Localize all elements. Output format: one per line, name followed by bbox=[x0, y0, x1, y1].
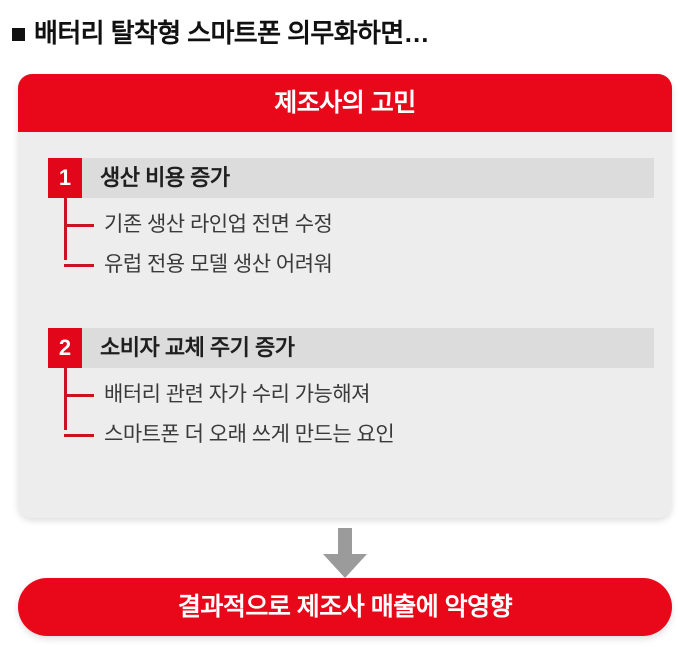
tree-branch-icon bbox=[64, 394, 94, 397]
conclusion-banner: 결과적으로 제조사 매출에 악영향 bbox=[18, 578, 672, 636]
page-title: 배터리 탈착형 스마트폰 의무화하면… bbox=[12, 14, 429, 52]
section-1-header: 1 생산 비용 증가 bbox=[48, 158, 654, 198]
conclusion-banner-text: 결과적으로 제조사 매출에 악영향 bbox=[178, 595, 512, 620]
list-item: 스마트폰 더 오래 쓰게 만드는 요인 bbox=[64, 414, 654, 454]
section-2-number-badge: 2 bbox=[48, 328, 82, 368]
concern-section-1: 1 생산 비용 증가 기존 생산 라인업 전면 수정 유럽 전용 모델 생산 어… bbox=[18, 158, 672, 284]
card-header: 제조사의 고민 bbox=[18, 74, 672, 132]
arrow-down-icon bbox=[317, 528, 373, 580]
list-item-text: 유럽 전용 모델 생산 어려워 bbox=[104, 254, 332, 275]
tree-branch-icon bbox=[64, 264, 94, 267]
section-1-items: 기존 생산 라인업 전면 수정 유럽 전용 모델 생산 어려워 bbox=[64, 198, 654, 284]
list-item: 유럽 전용 모델 생산 어려워 bbox=[64, 244, 654, 284]
manufacturer-concerns-card: 제조사의 고민 1 생산 비용 증가 기존 생산 라인업 전면 수정 유럽 전용… bbox=[18, 74, 672, 518]
section-1-heading: 생산 비용 증가 bbox=[100, 158, 230, 198]
section-2-items: 배터리 관련 자가 수리 가능해져 스마트폰 더 오래 쓰게 만드는 요인 bbox=[64, 368, 654, 454]
tree-branch-icon bbox=[64, 224, 94, 227]
list-item-text: 기존 생산 라인업 전면 수정 bbox=[104, 214, 332, 235]
page-title-text: 배터리 탈착형 스마트폰 의무화하면… bbox=[34, 20, 429, 46]
concern-section-2: 2 소비자 교체 주기 증가 배터리 관련 자가 수리 가능해져 스마트폰 더 … bbox=[18, 328, 672, 454]
square-bullet-icon bbox=[12, 28, 25, 41]
card-header-title: 제조사의 고민 bbox=[274, 91, 415, 116]
section-2-heading: 소비자 교체 주기 증가 bbox=[100, 328, 295, 368]
card-body: 1 생산 비용 증가 기존 생산 라인업 전면 수정 유럽 전용 모델 생산 어… bbox=[18, 132, 672, 518]
section-1-number-badge: 1 bbox=[48, 158, 82, 198]
list-item-text: 스마트폰 더 오래 쓰게 만드는 요인 bbox=[104, 424, 394, 445]
list-item-text: 배터리 관련 자가 수리 가능해져 bbox=[104, 384, 370, 405]
list-item: 기존 생산 라인업 전면 수정 bbox=[64, 204, 654, 244]
list-item: 배터리 관련 자가 수리 가능해져 bbox=[64, 374, 654, 414]
tree-branch-icon bbox=[64, 434, 94, 437]
section-2-header: 2 소비자 교체 주기 증가 bbox=[48, 328, 654, 368]
